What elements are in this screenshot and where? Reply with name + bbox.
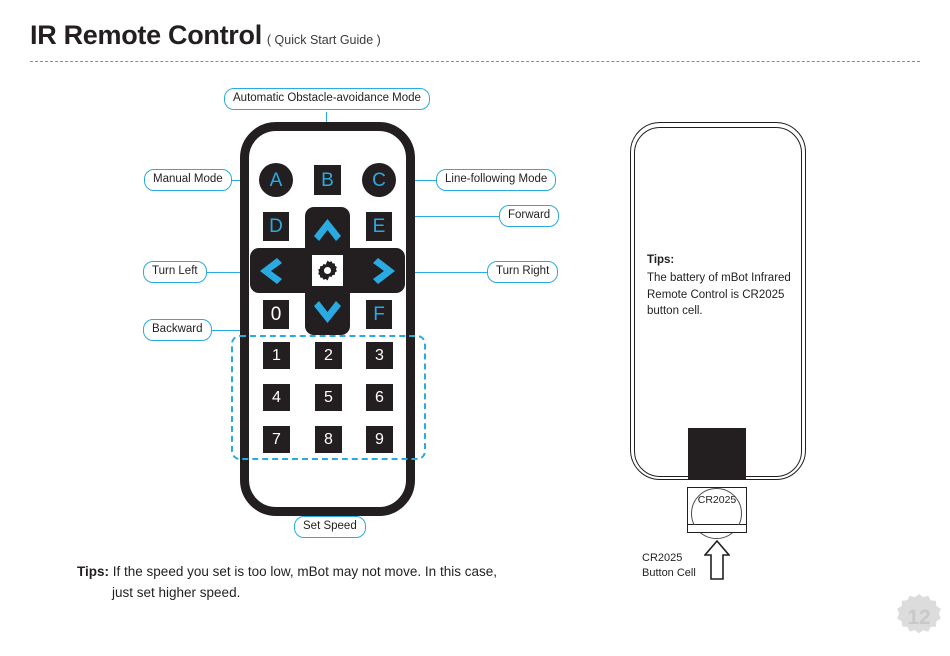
numkey-9[interactable]: 9: [366, 426, 393, 453]
gear-icon: [316, 259, 339, 282]
callout-backward: Backward: [143, 319, 212, 341]
battery-slot: [688, 428, 746, 480]
arrow-left-icon: [258, 256, 284, 286]
battery-tips-label: Tips:: [647, 252, 797, 268]
arrow-up-icon: [312, 217, 343, 243]
page-number: 12: [893, 592, 945, 644]
callout-turn-right: Turn Right: [487, 261, 558, 283]
battery-tips: Tips: The battery of mBot Infrared Remot…: [647, 252, 797, 319]
button-b[interactable]: B: [314, 165, 341, 195]
footer-tips-line1: If the speed you set is too low, mBot ma…: [113, 564, 497, 579]
callout-turn-left: Turn Left: [143, 261, 207, 283]
battery-cell-text: CR2025: [687, 494, 747, 506]
page-subtitle: ( Quick Start Guide ): [267, 33, 381, 47]
numkey-5[interactable]: 5: [315, 384, 342, 411]
button-d[interactable]: D: [263, 212, 289, 241]
numeric-keypad: 1 2 3 4 5 6 7 8 9: [258, 342, 398, 454]
gear-plate: [312, 255, 343, 286]
page-header: IR Remote Control ( Quick Start Guide ): [30, 20, 381, 51]
dpad-center-button[interactable]: [305, 248, 350, 293]
battery-caption-line1: CR2025: [642, 551, 696, 566]
numkey-2[interactable]: 2: [315, 342, 342, 369]
numkey-4[interactable]: 4: [263, 384, 290, 411]
callout-line-following-mode: Line-following Mode: [436, 169, 556, 191]
battery-caption-line2: Button Cell: [642, 566, 696, 581]
button-zero[interactable]: 0: [263, 300, 289, 329]
numkey-6[interactable]: 6: [366, 384, 393, 411]
callout-automatic-obstacle-avoidance: Automatic Obstacle-avoidance Mode: [224, 88, 430, 110]
callout-manual-mode: Manual Mode: [144, 169, 232, 191]
insert-arrow-icon: [704, 540, 730, 580]
callout-forward: Forward: [499, 205, 559, 227]
button-e[interactable]: E: [366, 212, 392, 241]
footer-tips-line2: just set higher speed.: [77, 583, 577, 604]
header-divider: [30, 61, 920, 62]
numkey-8[interactable]: 8: [315, 426, 342, 453]
numkey-3[interactable]: 3: [366, 342, 393, 369]
callout-set-speed: Set Speed: [294, 516, 366, 538]
arrow-down-icon: [312, 299, 343, 325]
button-f[interactable]: F: [366, 300, 392, 329]
button-c[interactable]: C: [362, 163, 396, 197]
numkey-1[interactable]: 1: [263, 342, 290, 369]
footer-tips: Tips: If the speed you set is too low, m…: [77, 562, 577, 604]
battery-tray-lip: [687, 525, 747, 533]
battery-caption: CR2025 Button Cell: [642, 551, 696, 581]
button-a[interactable]: A: [259, 163, 293, 197]
numkey-7[interactable]: 7: [263, 426, 290, 453]
page-title: IR Remote Control: [30, 20, 262, 51]
page-root: IR Remote Control ( Quick Start Guide ) …: [0, 0, 950, 656]
battery-tips-text: The battery of mBot Infrared Remote Cont…: [647, 272, 791, 317]
footer-tips-label: Tips:: [77, 564, 109, 579]
arrow-right-icon: [371, 256, 397, 286]
